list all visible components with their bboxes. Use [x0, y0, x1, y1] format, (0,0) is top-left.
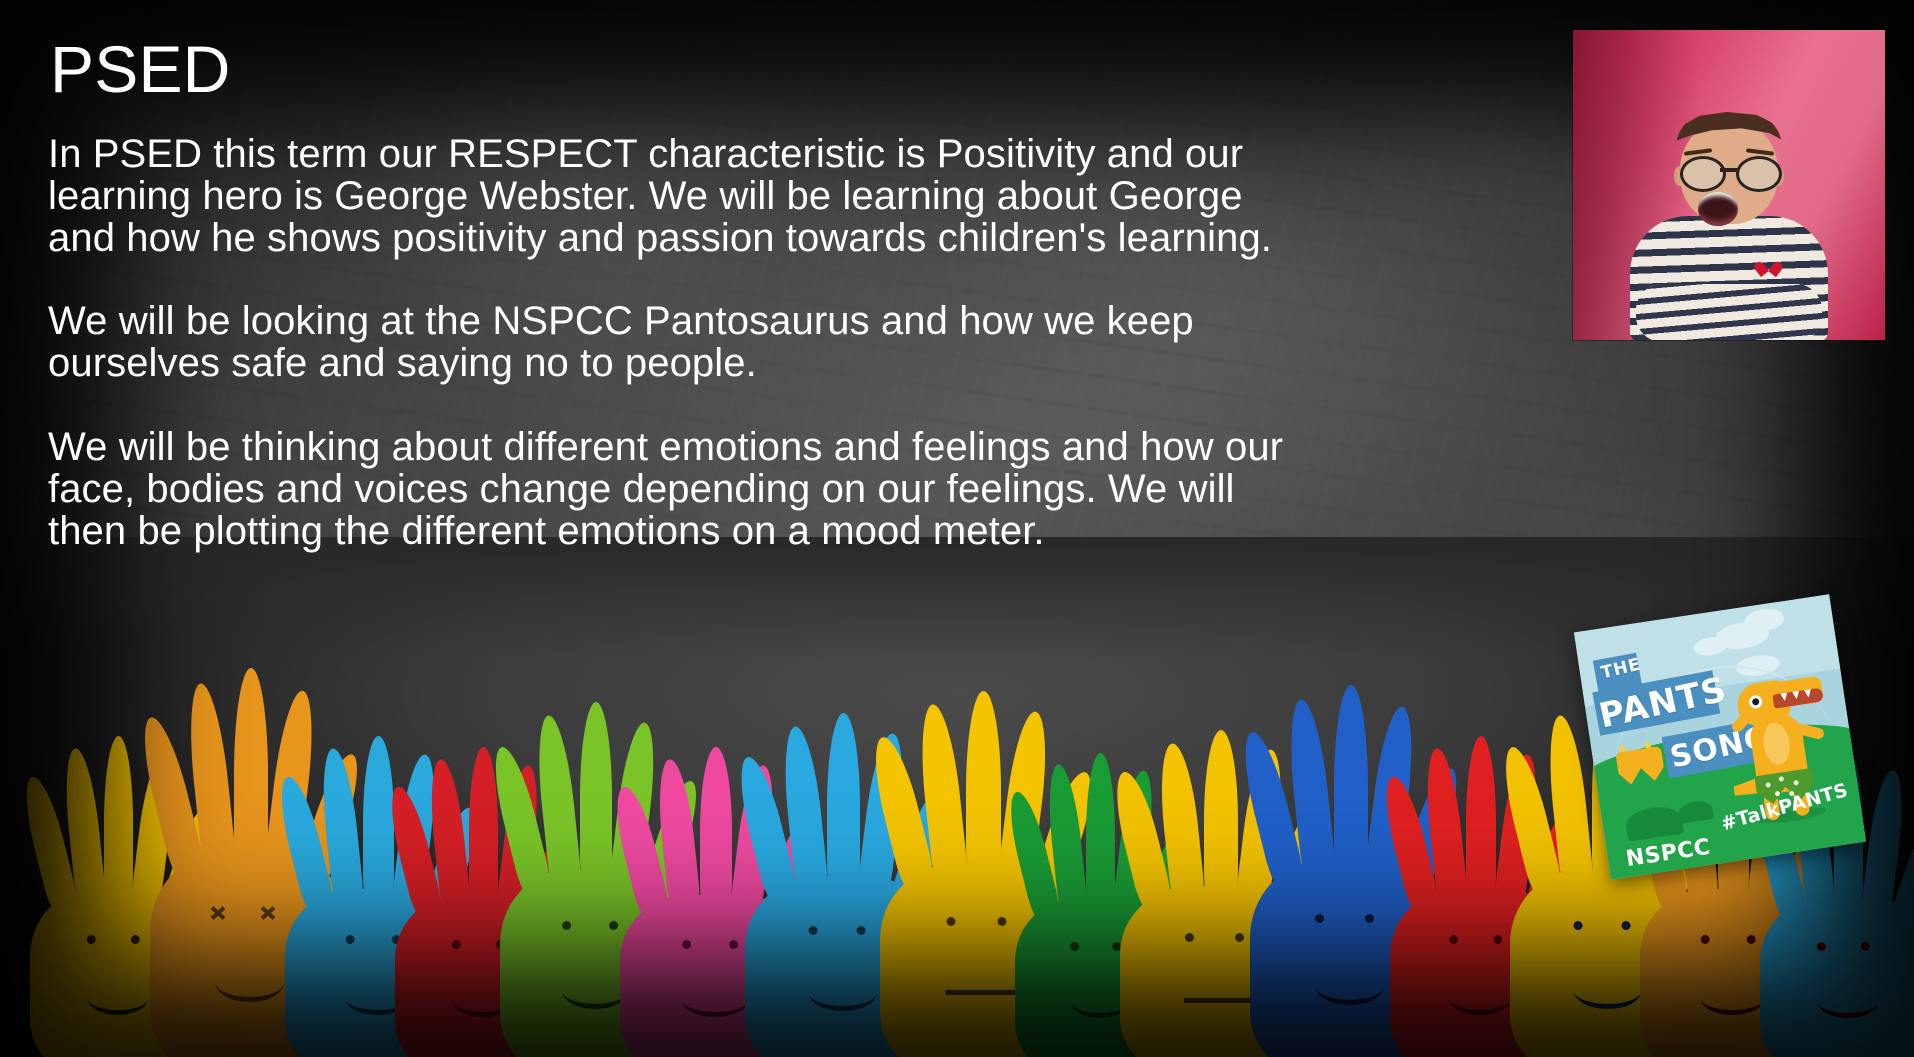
- george-figure: [1614, 108, 1844, 340]
- paragraph-spacer-2: [48, 385, 1308, 427]
- slide-body-text: In PSED this term our RESPECT characteri…: [48, 134, 1308, 552]
- heart-badge-icon: [1760, 260, 1778, 275]
- page-title: PSED: [50, 34, 231, 105]
- folded-arms: [1636, 284, 1822, 340]
- paragraph-2: We will be looking at the NSPCC Pantosau…: [48, 301, 1308, 385]
- glasses-bridge: [1720, 168, 1738, 172]
- nspcc-pants-song-card: THE PANTS SONG: [1574, 594, 1866, 879]
- lens-left: [1680, 156, 1726, 192]
- dino-pants-dot: [1775, 791, 1781, 797]
- paragraph-3: We will be thinking about different emot…: [48, 427, 1308, 552]
- presentation-slide: PSED In PSED this term our RESPECT chara…: [0, 0, 1914, 1057]
- lens-right: [1736, 156, 1782, 192]
- open-laughing-mouth: [1698, 192, 1738, 226]
- glasses-icon: [1676, 156, 1784, 186]
- george-webster-photo: [1573, 30, 1885, 340]
- paragraph-spacer-1: [48, 259, 1308, 301]
- sleeve-stripes: [1636, 284, 1822, 340]
- paragraph-1: In PSED this term our RESPECT characteri…: [48, 134, 1308, 259]
